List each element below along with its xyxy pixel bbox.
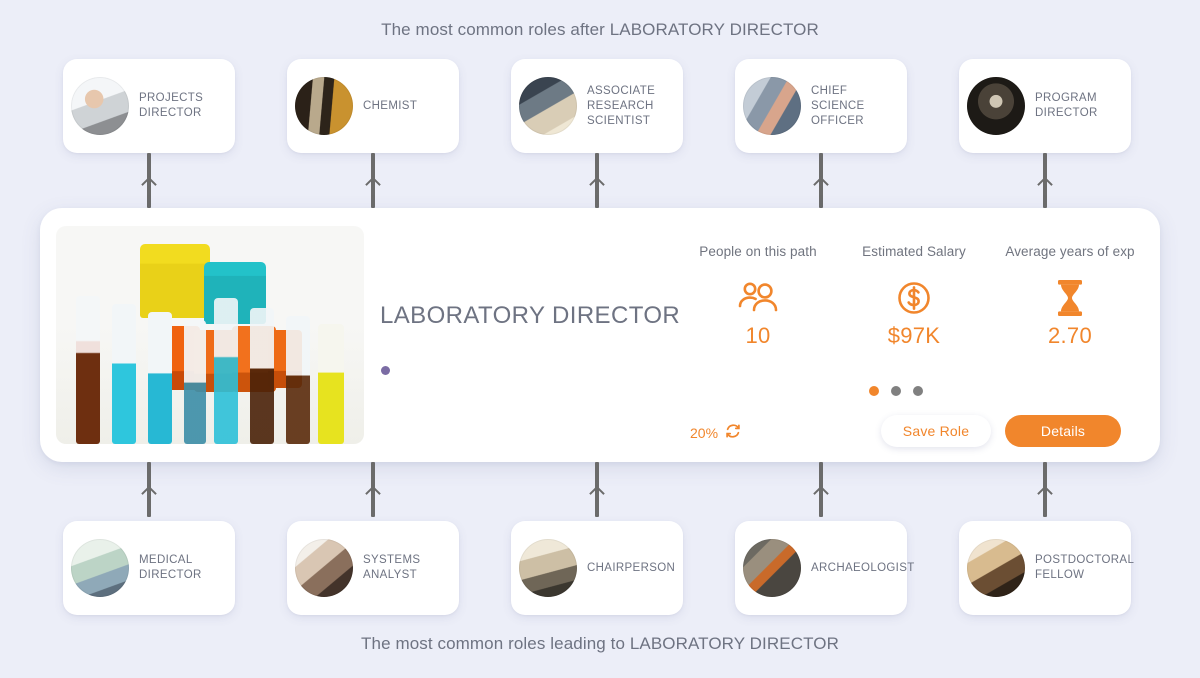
role-label: ASSOCIATE RESEARCH SCIENTIST [587, 84, 673, 129]
pagination-dots[interactable] [869, 386, 923, 396]
connector-previous-1 [363, 462, 383, 517]
arrow-up-icon [813, 177, 829, 193]
pagination-dot-0[interactable] [869, 386, 879, 396]
role-label: SYSTEMS ANALYST [363, 553, 449, 583]
connector-next-0 [139, 153, 159, 208]
connector-previous-3 [811, 462, 831, 517]
stat-value: $97K [836, 323, 992, 349]
role-thumbnail [967, 77, 1025, 135]
role-status-dot [381, 366, 390, 375]
arrow-up-icon [365, 486, 381, 502]
role-stats: People on this path 10 Estimated Salary [680, 244, 1150, 349]
arrow-up-icon [365, 177, 381, 193]
stat-label: Estimated Salary [836, 244, 992, 259]
role-card-next-4[interactable]: PROGRAM DIRECTOR [959, 59, 1131, 153]
role-label: ARCHAEOLOGIST [811, 561, 915, 576]
details-button[interactable]: Details [1005, 415, 1121, 447]
role-label: PROJECTS DIRECTOR [139, 91, 225, 121]
current-role-card[interactable]: LABORATORY DIRECTOR People on this path … [40, 208, 1160, 462]
role-card-next-3[interactable]: CHIEF SCIENCE OFFICER [735, 59, 907, 153]
role-thumbnail [743, 77, 801, 135]
stat-label: People on this path [680, 244, 836, 259]
role-card-next-0[interactable]: PROJECTS DIRECTOR [63, 59, 235, 153]
role-label: CHAIRPERSON [587, 561, 675, 576]
connector-next-2 [587, 153, 607, 208]
stat-average-years-exp: Average years of exp 2.70 [992, 244, 1148, 349]
role-card-previous-1[interactable]: SYSTEMS ANALYST [287, 521, 459, 615]
refresh-icon[interactable] [724, 422, 742, 443]
role-thumbnail [71, 539, 129, 597]
match-progress-value: 20% [690, 425, 718, 441]
page-title: LABORATORY DIRECTOR [380, 300, 680, 331]
role-thumbnail [519, 539, 577, 597]
role-label: MEDICAL DIRECTOR [139, 553, 225, 583]
caption-next-roles: The most common roles after LABORATORY D… [0, 20, 1200, 40]
role-thumbnail [743, 539, 801, 597]
hourglass-icon [992, 275, 1148, 321]
connector-next-3 [811, 153, 831, 208]
stat-label: Average years of exp [992, 244, 1148, 259]
role-thumbnail [295, 539, 353, 597]
role-thumbnail [967, 539, 1025, 597]
role-label: CHIEF SCIENCE OFFICER [811, 84, 897, 129]
role-label: CHEMIST [363, 99, 417, 114]
role-thumbnail [519, 77, 577, 135]
arrow-up-icon [1037, 486, 1053, 502]
role-label: PROGRAM DIRECTOR [1035, 91, 1121, 121]
connector-previous-0 [139, 462, 159, 517]
stat-value: 10 [680, 323, 836, 349]
arrow-up-icon [141, 486, 157, 502]
pagination-dot-1[interactable] [891, 386, 901, 396]
stat-people-on-path: People on this path 10 [680, 244, 836, 349]
people-icon [680, 275, 836, 321]
role-card-next-1[interactable]: CHEMIST [287, 59, 459, 153]
stat-value: 2.70 [992, 323, 1148, 349]
save-role-button[interactable]: Save Role [881, 415, 991, 447]
connector-next-4 [1035, 153, 1055, 208]
arrow-up-icon [589, 486, 605, 502]
arrow-up-icon [141, 177, 157, 193]
role-card-previous-0[interactable]: MEDICAL DIRECTOR [63, 521, 235, 615]
arrow-up-icon [1037, 177, 1053, 193]
match-progress: 20% [690, 422, 742, 443]
stat-estimated-salary: Estimated Salary $97K [836, 244, 992, 349]
connector-next-1 [363, 153, 383, 208]
role-card-previous-3[interactable]: ARCHAEOLOGIST [735, 521, 907, 615]
role-thumbnail [295, 77, 353, 135]
arrow-up-icon [813, 486, 829, 502]
role-thumbnail [71, 77, 129, 135]
arrow-up-icon [589, 177, 605, 193]
connector-previous-4 [1035, 462, 1055, 517]
pagination-dot-2[interactable] [913, 386, 923, 396]
role-card-previous-4[interactable]: POSTDOCTORAL FELLOW [959, 521, 1131, 615]
connector-previous-2 [587, 462, 607, 517]
career-path-view: The most common roles after LABORATORY D… [0, 0, 1200, 678]
role-label: POSTDOCTORAL FELLOW [1035, 553, 1134, 583]
role-card-next-2[interactable]: ASSOCIATE RESEARCH SCIENTIST [511, 59, 683, 153]
caption-previous-roles: The most common roles leading to LABORAT… [0, 634, 1200, 654]
dollar-circle-icon [836, 275, 992, 321]
role-card-previous-2[interactable]: CHAIRPERSON [511, 521, 683, 615]
hero-image [56, 226, 364, 444]
